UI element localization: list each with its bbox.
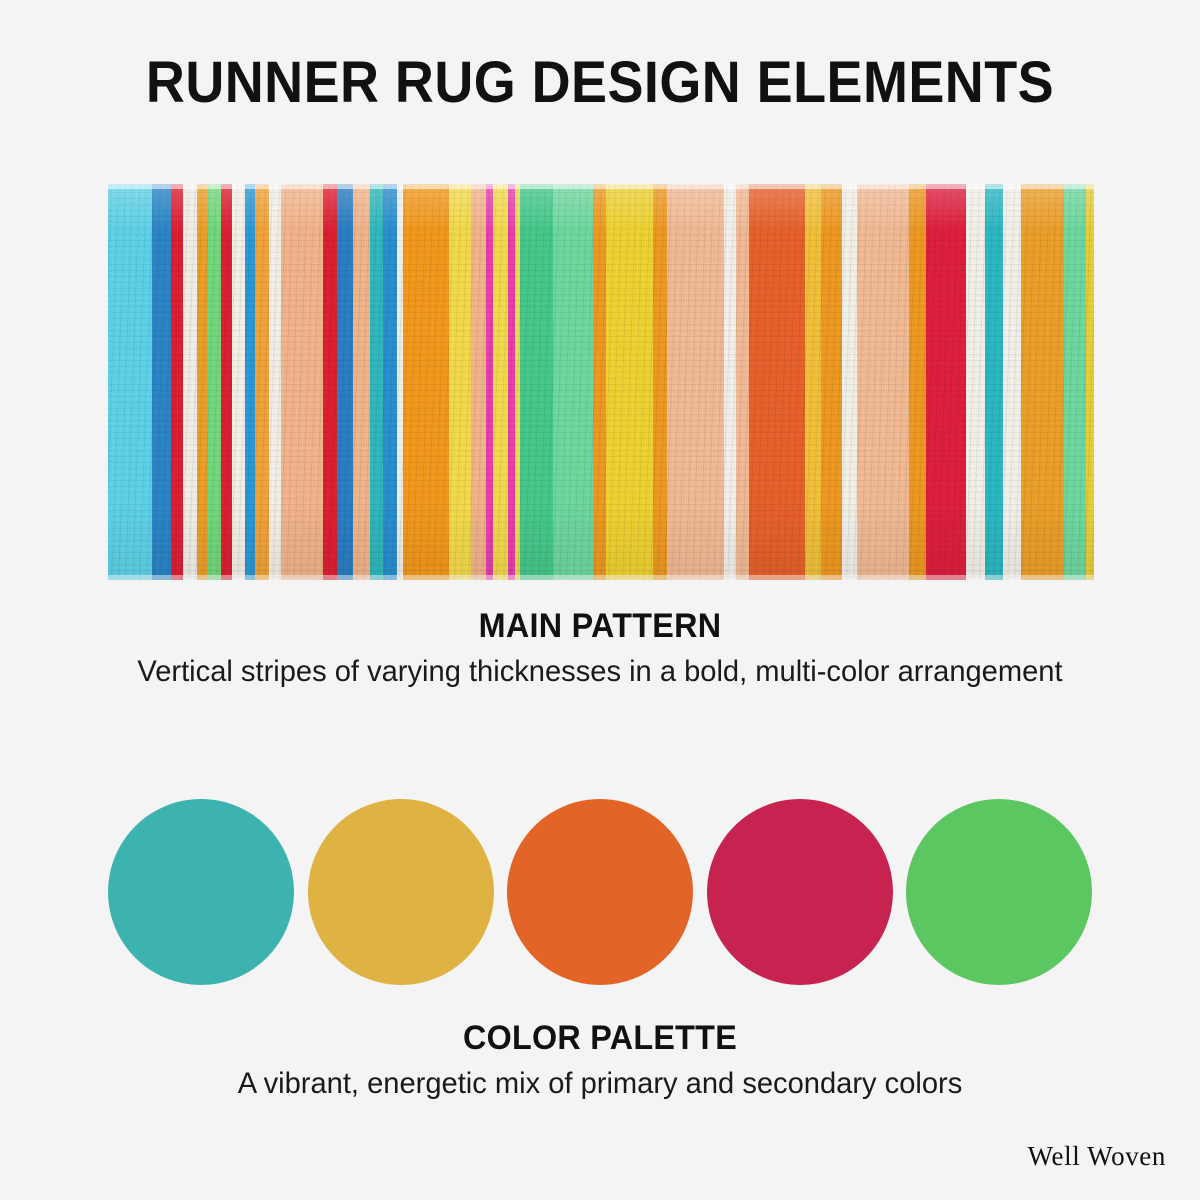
main-pattern-heading: MAIN PATTERN (30, 606, 1170, 646)
rug-stripe (245, 184, 256, 580)
color-swatch-pink (707, 799, 893, 985)
rug-stripe (221, 184, 232, 580)
page-title: RUNNER RUG DESIGN ELEMENTS (42, 52, 1158, 114)
rug-stripe (471, 184, 486, 580)
rug-stripe (152, 184, 172, 580)
rug-stripe (593, 184, 606, 580)
color-palette-heading: COLOR PALETTE (30, 1018, 1170, 1058)
rug-stripe (370, 184, 383, 580)
brand-logo: Well Woven (1028, 1140, 1166, 1172)
rug-stripe (197, 184, 208, 580)
rug-stripe (749, 184, 804, 580)
rug-stripe (966, 184, 985, 580)
rug-stripe (736, 184, 749, 580)
rug-stripe (842, 184, 857, 580)
infographic-page: RUNNER RUG DESIGN ELEMENTS MAIN PATTERN … (0, 0, 1200, 1200)
rug-stripe (208, 184, 221, 580)
rug-stripe (653, 184, 667, 580)
rug-stripe (232, 184, 245, 580)
color-swatch-orange (507, 799, 693, 985)
rug-stripe (449, 184, 471, 580)
rug-stripe (1064, 184, 1086, 580)
rug-stripe (383, 184, 397, 580)
rug-stripe (183, 184, 197, 580)
rug-stripe (857, 184, 908, 580)
rug-stripe (337, 184, 354, 580)
rug-stripe (1021, 184, 1064, 580)
rug-stripe (269, 184, 281, 580)
rug-stripe (805, 184, 821, 580)
rug-stripe (486, 184, 493, 580)
rug-stripe (909, 184, 927, 580)
color-palette-description: A vibrant, energetic mix of primary and … (115, 1064, 1085, 1104)
rug-stripe (353, 184, 370, 580)
rug-stripe (553, 184, 593, 580)
rug-stripe (171, 184, 183, 580)
color-palette-swatches (108, 799, 1092, 985)
rug-stripe (985, 184, 1003, 580)
rug-stripe (667, 184, 723, 580)
rug-stripe (724, 184, 737, 580)
rug-stripe (323, 184, 337, 580)
color-swatch-gold (308, 799, 494, 985)
rug-image (108, 184, 1094, 580)
color-swatch-teal (108, 799, 294, 985)
rug-stripe (520, 184, 554, 580)
rug-stripe (508, 184, 515, 580)
rug-stripe (821, 184, 843, 580)
rug-stripe (1003, 184, 1022, 580)
rug-stripe (493, 184, 508, 580)
rug-stripe (606, 184, 654, 580)
rug-stripe (926, 184, 966, 580)
color-swatch-green (906, 799, 1092, 985)
rug-stripe-group (108, 184, 1094, 580)
rug-stripe (1086, 184, 1094, 580)
rug-stripe (281, 184, 323, 580)
rug-stripe (108, 184, 152, 580)
rug-stripe (403, 184, 450, 580)
main-pattern-description: Vertical stripes of varying thicknesses … (115, 652, 1085, 692)
rug-stripe (255, 184, 269, 580)
